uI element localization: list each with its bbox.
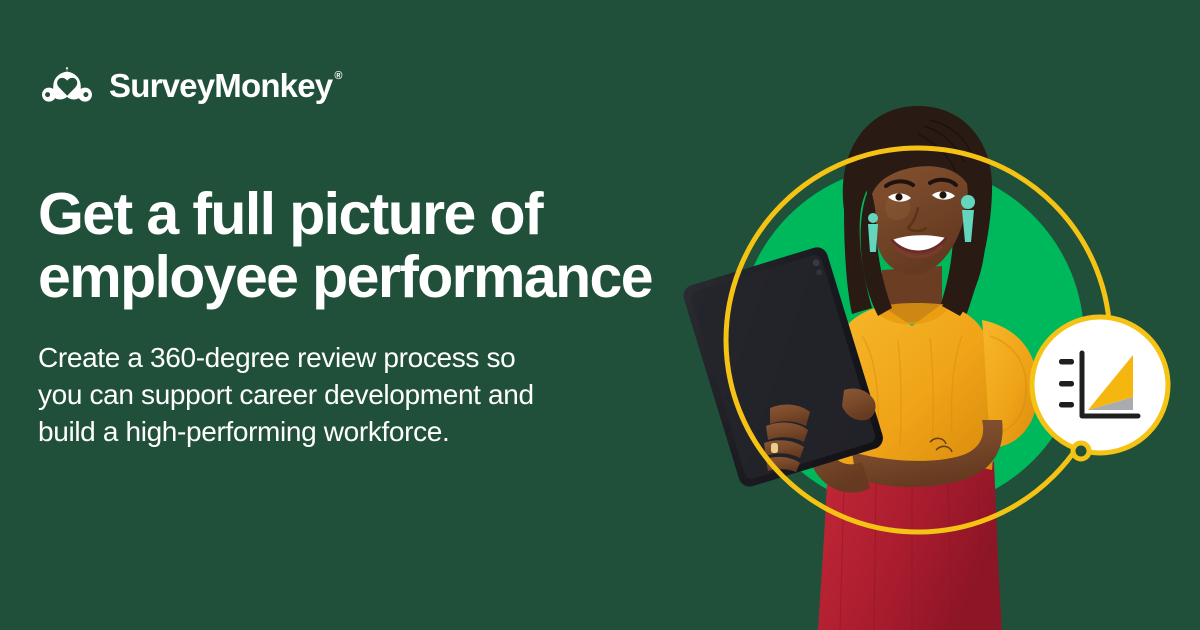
chart-badge	[1032, 317, 1168, 459]
surveymonkey-monkey-icon	[38, 66, 96, 104]
hero-illustration	[630, 90, 1200, 630]
logo-brand-name: SurveyMonkey	[109, 69, 332, 102]
hero-banner: SurveyMonkey ® Get a full picture of emp…	[0, 0, 1200, 630]
badge-circle	[1032, 317, 1168, 453]
person-photo	[681, 106, 1038, 630]
illustration-canvas	[630, 90, 1200, 630]
logo-wordmark: SurveyMonkey ®	[109, 69, 342, 102]
ring-connector-dot	[1073, 443, 1089, 459]
hero-subcopy: Create a 360-degree review process so yo…	[38, 339, 558, 451]
surveymonkey-logo[interactable]: SurveyMonkey ®	[38, 62, 342, 108]
registered-trademark-icon: ®	[334, 71, 341, 82]
